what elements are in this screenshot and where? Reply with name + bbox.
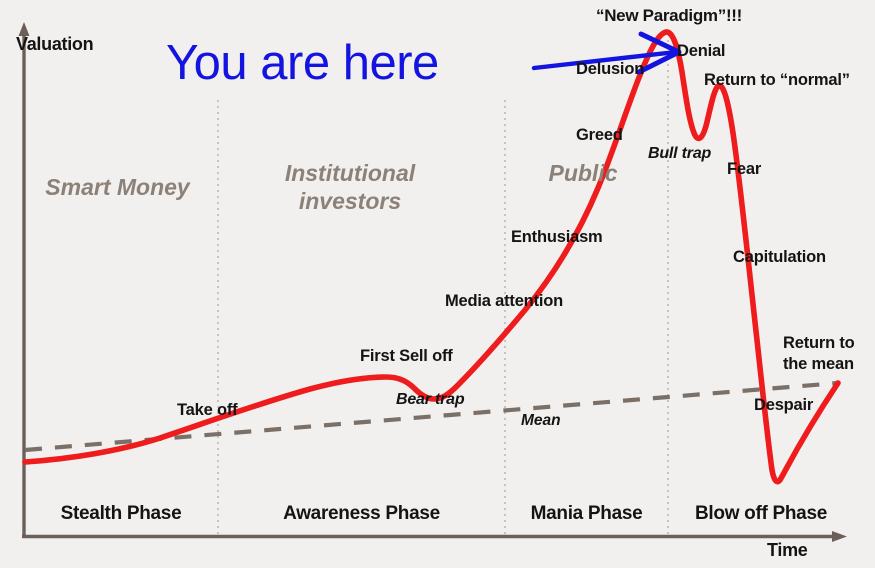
- label-new-paradigm: “New Paradigm”!!!: [596, 6, 742, 25]
- label-greed: Greed: [576, 126, 623, 144]
- label-return-to-normal: Return to “normal”: [704, 71, 850, 89]
- phase-label-awareness: Awareness Phase: [218, 503, 505, 524]
- axes: [19, 22, 848, 542]
- bubble-stages-chart: Valuation Time You are here Smart Money …: [0, 0, 875, 568]
- label-despair: Despair: [754, 396, 813, 414]
- label-fear: Fear: [727, 160, 761, 178]
- valuation-curve: [25, 32, 838, 482]
- phase-label-stealth: Stealth Phase: [24, 503, 218, 524]
- label-enthusiasm: Enthusiasm: [511, 228, 603, 246]
- phase-dividers: [218, 40, 668, 537]
- label-bear-trap: Bear trap: [396, 391, 464, 409]
- label-return-to-the-mean-line1: Return to: [783, 334, 855, 352]
- phase-label-blowoff: Blow off Phase: [668, 503, 854, 524]
- participant-label-public: Public: [513, 161, 653, 187]
- participant-label-institutional-line1: Institutional: [255, 161, 445, 187]
- label-take-off: Take off: [177, 401, 237, 419]
- label-mean: Mean: [521, 412, 561, 429]
- you-are-here-callout: You are here: [166, 35, 439, 91]
- label-return-to-the-mean-line2: the mean: [783, 355, 854, 373]
- participant-label-smart-money: Smart Money: [35, 175, 200, 201]
- label-first-sell-off: First Sell off: [360, 347, 453, 365]
- label-bull-trap: Bull trap: [648, 145, 711, 163]
- label-denial: Denial: [677, 42, 725, 60]
- label-capitulation: Capitulation: [733, 248, 826, 266]
- participant-label-institutional-line2: investors: [255, 189, 445, 215]
- x-axis-title: Time: [767, 540, 808, 560]
- label-delusion: Delusion: [576, 60, 644, 78]
- y-axis-title: Valuation: [16, 34, 93, 54]
- label-media-attention: Media attention: [445, 292, 563, 310]
- phase-label-mania: Mania Phase: [505, 503, 668, 524]
- x-axis-arrowhead: [832, 531, 847, 542]
